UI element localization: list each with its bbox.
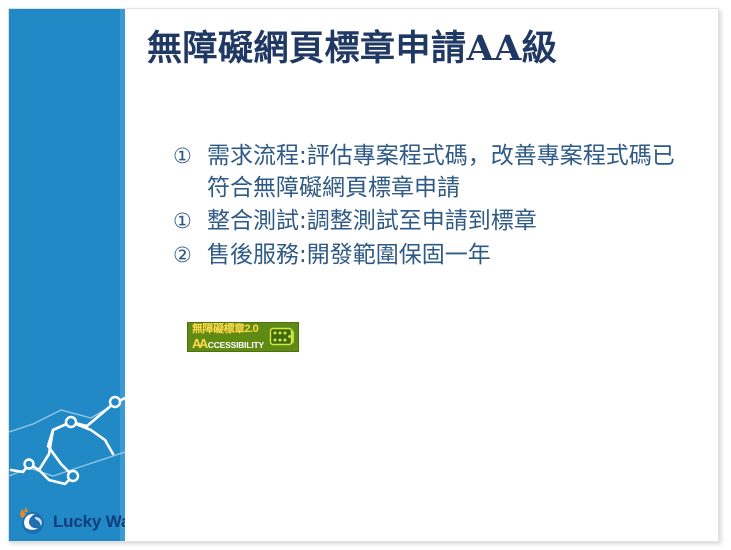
list-item: ① 需求流程:評估專案程式碼，改善專案程式碼已符合無障礙網頁標章申請 bbox=[173, 141, 693, 204]
slide-content: 無障礙網頁標章申請AA級 ① 需求流程:評估專案程式碼，改善專案程式碼已符合無障… bbox=[125, 9, 718, 541]
sidebar-panel: Lucky Wave bbox=[9, 9, 125, 542]
list-item-label: 需求流程:評估專案程式碼，改善專案程式碼已符合無障礙網頁標章申請 bbox=[207, 141, 693, 204]
page-title: 無障礙網頁標章申請AA級 bbox=[147, 27, 557, 71]
accessibility-badge: 無障礙標章2.0 AA CCESSIBILITY bbox=[187, 322, 299, 352]
list-item-marker: ② bbox=[173, 240, 207, 272]
list-item-label: 整合測試:調整測試至申請到標章 bbox=[207, 206, 693, 238]
list-item-marker: ① bbox=[173, 206, 207, 238]
accessibility-badge-title: 無障礙標章2.0 bbox=[192, 324, 269, 335]
presentation-slide: Lucky Wave 無障礙網頁標章申請AA級 ① 需求流程:評估專案程式碼，改… bbox=[8, 8, 719, 542]
logo-text: Lucky Wave bbox=[53, 513, 125, 530]
list-item: ① 整合測試:調整測試至申請到標章 bbox=[173, 206, 693, 238]
list-item-label: 售後服務:開發範圍保固一年 bbox=[207, 240, 693, 272]
list-item-marker: ① bbox=[173, 141, 207, 173]
wave-swirl-logo-icon bbox=[17, 506, 49, 536]
accessibility-badge-aa-mark: AA bbox=[192, 337, 206, 350]
company-logo: Lucky Wave bbox=[17, 506, 125, 536]
list-item: ② 售後服務:開發範圍保固一年 bbox=[173, 240, 693, 272]
slide-canvas: Lucky Wave 無障礙網頁標章申請AA級 ① 需求流程:評估專案程式碼，改… bbox=[0, 0, 731, 550]
accessibility-badge-subtitle-row: AA CCESSIBILITY bbox=[192, 337, 269, 350]
bullet-list: ① 需求流程:評估專案程式碼，改善專案程式碼已符合無障礙網頁標章申請 ① 整合測… bbox=[173, 141, 693, 274]
accessibility-badge-texts: 無障礙標章2.0 AA CCESSIBILITY bbox=[192, 324, 269, 350]
network-decoration-icon bbox=[9, 380, 125, 520]
braille-dots-icon bbox=[269, 326, 295, 348]
accessibility-badge-word: CCESSIBILITY bbox=[208, 341, 264, 350]
